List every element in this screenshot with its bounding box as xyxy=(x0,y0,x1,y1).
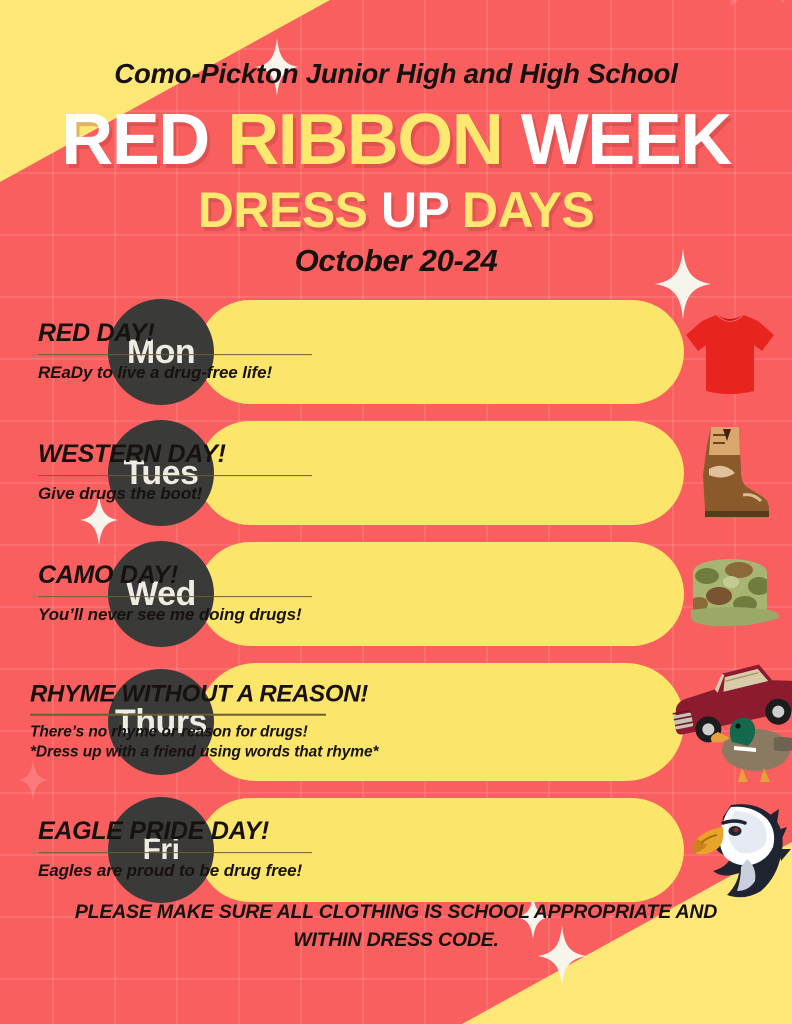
day-row: Wed CAMO DAY! You’ll never see me doing … xyxy=(0,542,792,646)
day-content: EAGLE PRIDE DAY! Eagles are proud to be … xyxy=(38,818,408,882)
event-date: October 20-24 xyxy=(0,243,792,279)
subtitle-word-up: UP xyxy=(381,182,449,238)
day-title: CAMO DAY! xyxy=(38,562,408,590)
day-row: Tues WESTERN DAY! Give drugs the boot! xyxy=(0,421,792,525)
day-subtitle: Eagles are proud to be drug free! xyxy=(38,860,408,882)
day-title: RED DAY! xyxy=(38,320,408,348)
page-title: RED RIBBON WEEK xyxy=(0,106,792,175)
day-content: RED DAY! REaDy to live a drug-free life! xyxy=(38,320,408,384)
divider-rule xyxy=(38,475,312,477)
eagle-head-icon xyxy=(680,798,792,902)
day-row: Thurs RHYME WITHOUT A REASON! There’s no… xyxy=(0,663,792,781)
title-word-week: WEEK xyxy=(521,100,731,180)
day-subtitle-line2: *Dress up with a friend using words that… xyxy=(30,742,430,762)
day-content: WESTERN DAY! Give drugs the boot! xyxy=(38,441,408,505)
footer-note: PLEASE MAKE SURE ALL CLOTHING IS SCHOOL … xyxy=(46,898,746,955)
school-name: Como-Pickton Junior High and High School xyxy=(0,58,792,90)
truck-and-duck-icon xyxy=(658,670,792,774)
cowboy-boot-icon xyxy=(670,421,790,525)
day-row: Mon RED DAY! REaDy to live a drug-free l… xyxy=(0,300,792,404)
red-tshirt-icon xyxy=(670,300,790,404)
divider-rule xyxy=(38,354,312,356)
day-title: WESTERN DAY! xyxy=(38,441,408,469)
title-word-red: RED xyxy=(61,100,209,180)
day-subtitle: You’ll never see me doing drugs! xyxy=(38,604,408,626)
day-title: RHYME WITHOUT A REASON! xyxy=(30,682,430,708)
day-row: Fri EAGLE PRIDE DAY! Eagles are proud to… xyxy=(0,798,792,902)
camo-hat-icon xyxy=(670,542,790,646)
dress-up-days-list: Mon RED DAY! REaDy to live a drug-free l… xyxy=(0,300,792,919)
footer-line-2: WITHIN DRESS CODE. xyxy=(46,926,746,954)
red-ribbon-week-poster: RED RIBBON WEEK RED RIBBON WEEK Como-Pic… xyxy=(0,0,792,1024)
day-content: RHYME WITHOUT A REASON! There’s no rhyme… xyxy=(30,682,430,763)
day-subtitle: Give drugs the boot! xyxy=(38,483,408,505)
day-title: EAGLE PRIDE DAY! xyxy=(38,818,408,846)
title-word-ribbon: RIBBON xyxy=(227,100,502,180)
footer-line-1: PLEASE MAKE SURE ALL CLOTHING IS SCHOOL … xyxy=(46,898,746,926)
divider-rule xyxy=(38,852,312,854)
poster-header: Como-Pickton Junior High and High School… xyxy=(0,0,792,279)
day-content: CAMO DAY! You’ll never see me doing drug… xyxy=(38,562,408,626)
divider-rule xyxy=(30,714,326,716)
day-subtitle: REaDy to live a drug-free life! xyxy=(38,362,408,384)
page-subtitle: DRESS UP DAYS xyxy=(0,185,792,235)
divider-rule xyxy=(38,596,312,598)
subtitle-word-days: DAYS xyxy=(462,182,594,238)
day-subtitle-line1: There’s no rhyme or reason for drugs! xyxy=(30,723,430,743)
subtitle-word-dress: DRESS xyxy=(198,182,368,238)
